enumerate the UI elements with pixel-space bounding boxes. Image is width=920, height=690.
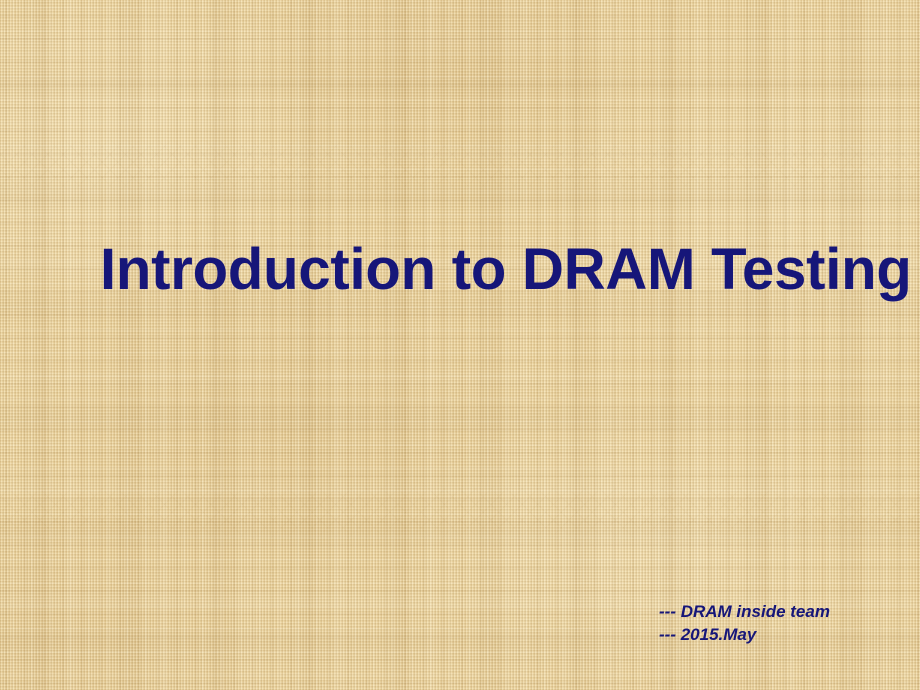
slide-title: Introduction to DRAM Testing [100,238,912,303]
presentation-title-slide: Introduction to DRAM Testing --- DRAM in… [0,0,920,690]
byline-line-date: --- 2015.May [659,623,830,646]
slide-byline: --- DRAM inside team --- 2015.May [659,600,830,646]
byline-line-team: --- DRAM inside team [659,600,830,623]
background-warp-thread-layer [0,0,920,690]
